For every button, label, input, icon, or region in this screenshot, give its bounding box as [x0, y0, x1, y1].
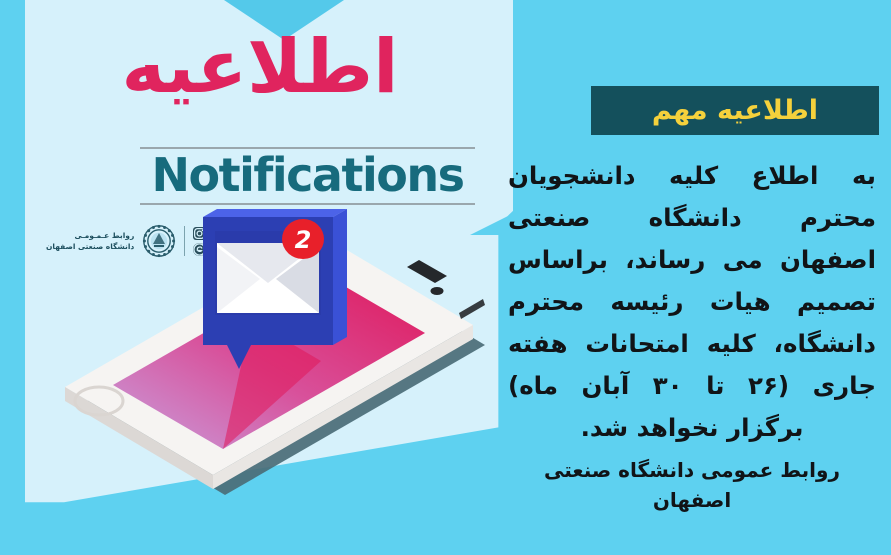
- page-title-english: Notifications: [140, 148, 475, 202]
- notice-signature: روابط عمومی دانشگاه صنعتی اصفهان: [508, 455, 876, 515]
- notice-header-text: اطلاعیه مهم: [652, 95, 818, 126]
- notice-body-text: به اطلاع کلیه دانشجویان محترم دانشگاه صن…: [508, 155, 876, 449]
- notification-poster: اطلاعیه Notifications روابط عـمـومـی دان…: [0, 0, 891, 555]
- stylus-icon: [459, 299, 485, 319]
- badge-count: 2: [295, 226, 312, 254]
- message-bubble: [203, 209, 347, 369]
- notice-body: به اطلاع کلیه دانشجویان محترم دانشگاه صن…: [508, 155, 876, 449]
- phone-notification-illustration: 2: [55, 195, 485, 495]
- page-title-farsi: اطلاعیه: [25, 30, 495, 104]
- notice-header-box: اطلاعیه مهم: [591, 86, 879, 135]
- notification-badge: 2: [282, 219, 324, 259]
